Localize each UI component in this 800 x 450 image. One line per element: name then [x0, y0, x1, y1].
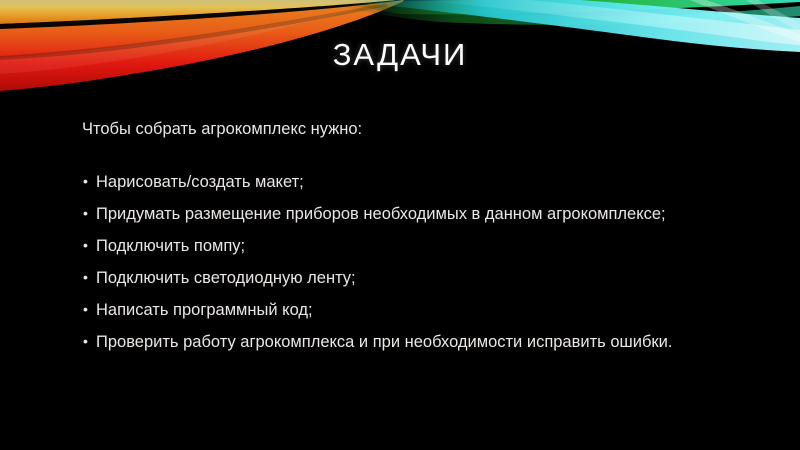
list-item: Проверить работу агрокомплекса и при нео…	[82, 332, 744, 353]
slide-title: ЗАДАЧИ	[0, 36, 800, 74]
intro-paragraph: Чтобы собрать агрокомплекс нужно:	[82, 118, 742, 140]
list-item: Написать программный код;	[82, 300, 742, 321]
list-item: Подключить помпу;	[82, 236, 742, 257]
list-item: Придумать размещение приборов необходимы…	[82, 204, 744, 225]
slide-body: Чтобы собрать агрокомплекс нужно: Нарисо…	[82, 118, 742, 364]
list-item: Подключить светодиодную ленту;	[82, 268, 742, 289]
slide: ЗАДАЧИ Чтобы собрать агрокомплекс нужно:…	[0, 0, 800, 450]
task-bullet-list: Нарисовать/создать макет; Придумать разм…	[82, 172, 742, 353]
list-item: Нарисовать/создать макет;	[82, 172, 742, 193]
